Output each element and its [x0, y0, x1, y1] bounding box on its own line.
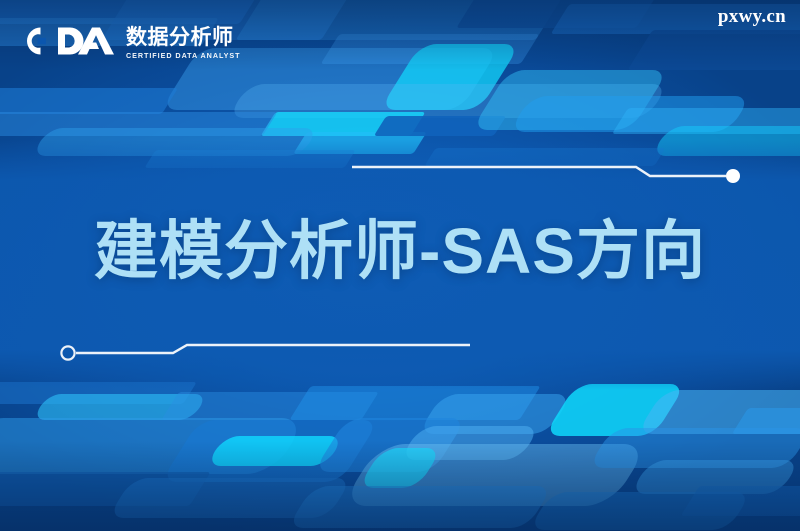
bottom-line-endpoint-ring	[61, 346, 74, 359]
bottom-step-line	[76, 345, 470, 353]
top-step-line	[352, 167, 726, 176]
top-line-endpoint-dot	[726, 169, 740, 183]
course-banner: 数据分析师 CERTIFIED DATA ANALYST pxwy.cn 建模分…	[0, 0, 800, 531]
page-title: 建模分析师-SAS方向	[0, 216, 800, 286]
